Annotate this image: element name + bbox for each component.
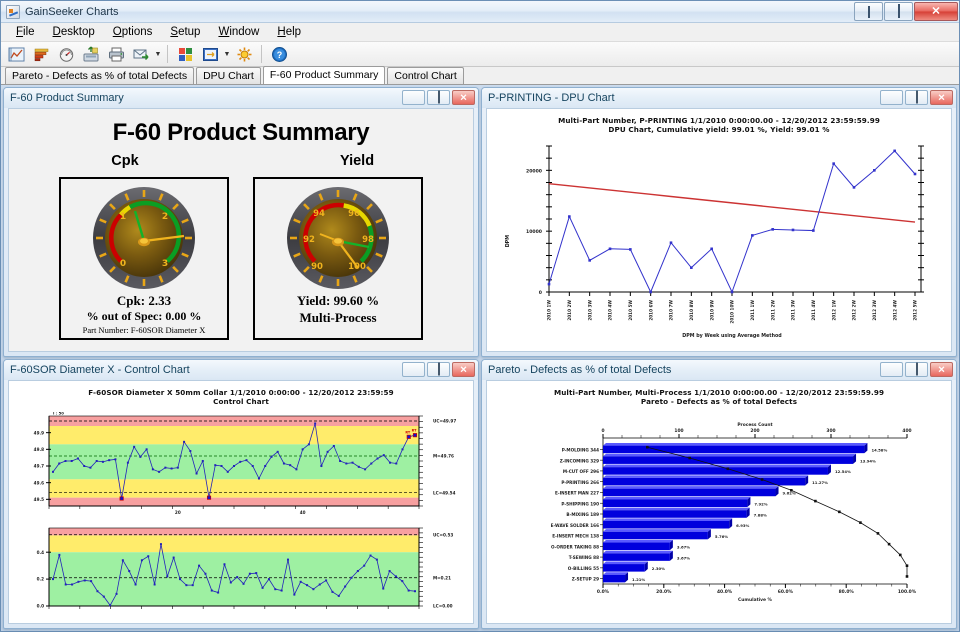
pareto-cumulative-point [877,532,880,535]
cc-data-point [83,465,85,467]
cc-data-point [331,591,333,593]
menu-bar: File Desktop Options Setup Window Help [1,23,959,42]
close-button[interactable]: ✕ [914,2,958,21]
pareto-plot: Process Count0100200300400P-MOLDING 3441… [487,406,949,618]
dpu-x-tick-label: 2010 9W [709,300,714,321]
cc-limit-label: LC=49.54 [433,490,456,495]
cc-data-point [319,583,321,585]
control-chart-subtitle: Control Chart [9,397,473,406]
dpu-x-tick-label: 2010 5W [628,300,633,321]
cc-violation-point [407,435,410,438]
pareto-percent-label: 13.94% [860,458,876,463]
cc-data-point [96,590,98,592]
cc-data-point [295,468,297,470]
cc-y-tick-label: 49.8 [34,447,44,452]
dpu-data-point [893,150,896,153]
cc-data-point [245,459,247,461]
cc-data-point [320,465,322,467]
cc-data-point [164,467,166,469]
dpu-x-tick-label: 2012 5W [913,300,918,321]
dpu-data-point [731,291,734,294]
pareto-percent-label: 6.93% [736,523,749,528]
dpu-chart-subtitle: DPU Chart, Cumulative yield: 99.01 %, Yi… [487,125,951,134]
pareto-icon[interactable] [29,43,53,65]
yield-tick-94: 94 [313,209,325,219]
cc-data-point [281,590,283,592]
cc-data-point [52,471,54,473]
cc-data-point [196,473,198,475]
control-chart-body: F-60SOR Diameter X 50mm Collar 1/1/2010 … [8,380,474,624]
cc-data-point [383,454,385,456]
pareto-percent-label: 3.67% [677,555,690,560]
cc-y-tick-label: 49.5 [34,497,44,502]
child-window-dpu-chart: P-PRINTING - DPU Chart ✕ Multi-Part Numb… [481,87,957,357]
cc-data-point [249,573,251,575]
pareto-category-label: E-WAVE SOLDER 166 [551,523,599,528]
cc-data-point [77,458,79,460]
yield-value-label: Yield: 99.60 % [297,293,379,309]
cc-limit-label: M=49.76 [433,454,454,459]
cc-data-point [58,554,60,556]
pareto-category-label: B-MIXING 189 [566,512,599,517]
cc-data-point [262,587,264,589]
cc-data-point [147,555,149,557]
cc-violation-point [120,497,123,500]
cc-data-point [255,572,257,574]
cc-data-point [102,461,104,463]
pareto-bar-top [603,497,750,500]
cc-zone [49,528,419,535]
cc-data-point [382,588,384,590]
toolbar: ▼ ▼ ? [1,42,959,67]
settings-sun-icon[interactable] [232,43,256,65]
cc-data-point [77,581,79,583]
cc-data-point [358,466,360,468]
cc-data-point [116,593,118,595]
cc-data-point [363,565,365,567]
pareto-category-label: P-PRINTING 266 [561,480,599,485]
cc-x-tick-label: 20 [175,510,181,515]
dpu-data-point [629,248,632,251]
pareto-category-label: O-ORDER TAKING 88 [551,544,599,549]
pareto-cumulative-point [859,521,862,524]
cc-data-point [122,559,124,561]
dpu-window-title: P-PRINTING - DPU Chart [488,92,615,104]
cc-data-point [114,458,116,460]
cc-data-point [185,584,187,586]
dpu-data-point [649,291,652,294]
dpu-x-tick-label: 2010 3W [587,300,592,321]
pareto-minimize-button[interactable] [880,362,903,377]
menu-window-label: indow [229,26,259,38]
yield-gauge: 92 94 96 98 90 100 [282,184,394,292]
pareto-top-tick-label: 300 [826,428,835,434]
child-window-f60-summary: F-60 Product Summary ✕ F-60 Product Summ… [3,87,479,357]
cc-zone [49,426,419,444]
cc-x-tick-label: 40 [300,510,306,515]
cc-data-point [401,580,403,582]
cc-data-point [71,583,73,585]
pareto-category-label: P-SHIPPING 190 [561,501,599,506]
toolbar-separator [167,45,168,63]
export-icon[interactable] [79,43,103,65]
pareto-bar [603,532,708,540]
pareto-bar [603,521,729,529]
menu-options[interactable]: Options [104,24,162,40]
cc-data-point [408,590,410,592]
dpu-titlebar: P-PRINTING - DPU Chart ✕ [482,88,956,108]
pareto-category-label: Z-INCOMING 329 [560,458,599,463]
chart-tabstrip: Pareto - Defects as % of total Defects D… [1,67,959,85]
cc-violation-point [207,496,210,499]
summary-column-headers: Cpk Yield [9,153,473,169]
cc-data-point [160,543,162,545]
cc-zone [49,535,419,552]
pareto-titlebar: Pareto - Defects as % of total Defects ✕ [482,360,956,380]
control-window-controls: ✕ [402,362,475,377]
pareto-percent-label: 3.67% [677,545,690,550]
cc-zone [49,479,419,497]
tab-control-chart[interactable]: Control Chart [387,67,463,84]
cpk-part-number-label: Part Number: F-60SOR Diameter X [83,325,206,335]
dpu-chart-title: Multi-Part Number, P-PRINTING 1/1/2010 0… [487,116,951,125]
dpu-window-controls: ✕ [880,90,953,105]
cc-data-point [333,445,335,447]
menu-desktop[interactable]: Desktop [44,24,104,40]
menu-window[interactable]: Window [209,24,268,40]
menu-file-label: ile [23,26,35,38]
pareto-percent-label: 14.58% [871,448,887,453]
pareto-bar [603,553,670,561]
pareto-cumulative-point [790,489,793,492]
cc-data-point [166,575,168,577]
cc-data-point [376,559,378,561]
pareto-bottom-tick-label: 20.0% [656,589,672,595]
pareto-percent-label: 2.30% [652,566,665,571]
cc-data-point [103,596,105,598]
yield-tick-90: 90 [311,262,323,272]
f60-minimize-button[interactable] [402,90,425,105]
cc-data-point [52,578,54,580]
dpu-data-point [588,259,591,262]
pareto-bar [603,499,747,507]
pareto-bar-top [603,486,779,489]
pareto-cumulative-point [814,500,817,503]
help-icon[interactable]: ? [267,43,291,65]
email-icon[interactable] [129,43,153,65]
dpu-x-tick-label: 2012 4W [892,300,897,321]
pareto-cumulative-point [727,467,730,470]
cc-data-point [152,468,154,470]
window-controls: ✕ [853,2,958,21]
f60-summary-title: F-60 Product Summary [10,92,124,104]
cc-data-point [395,463,397,465]
cc-data-point [370,463,372,465]
cc-y-tick-label: 0.4 [37,550,45,555]
tab-dpu-chart[interactable]: DPU Chart [196,67,261,84]
cc-data-point [64,460,66,462]
dpu-close-button[interactable]: ✕ [930,90,953,105]
new-chart-icon[interactable] [4,43,28,65]
pareto-category-label: E-INSERT MAN 227 [555,491,599,496]
f60-summary-body: F-60 Product Summary Cpk Yield [8,108,474,352]
pareto-bottom-tick-label: 0.0% [597,589,610,595]
pareto-cumulative-point [646,446,649,449]
dpu-data-point [832,162,835,165]
minimize-button[interactable] [854,2,883,21]
pareto-bottom-tick-label: 40.0% [717,589,733,595]
pareto-bar [603,510,747,518]
maximize-button[interactable] [884,2,913,21]
cc-data-point [89,467,91,469]
control-maximize-button[interactable] [427,362,450,377]
arrange-icon[interactable] [198,43,222,65]
cc-data-point [306,584,308,586]
dpu-data-point [853,186,856,189]
cc-corner-label: I : 50 [53,411,64,416]
cc-data-point [90,580,92,582]
cc-data-point [243,583,245,585]
dpu-x-tick-label: 2011 2W [770,300,775,321]
cc-data-point [377,458,379,460]
dpu-y-tick-label: 10000 [526,229,542,235]
cpk-gauge-box: 1 2 0 3 Cpk: 2.33 % out of Spec: 0.00 % [59,177,229,340]
pareto-bar [603,543,670,551]
pareto-bar-top [603,508,750,511]
f60-maximize-button[interactable] [427,90,450,105]
cpk-out-of-spec-label: % out of Spec: 0.00 % [87,309,202,324]
pareto-cumulative-point [688,457,691,460]
cc-data-point [283,463,285,465]
pareto-cumulative-point [888,543,891,546]
cc-data-point [270,456,272,458]
pareto-percent-label: 7.88% [754,512,767,517]
cc-y-tick-label: 0.0 [37,604,45,609]
pareto-category-label: O-BILLING 55 [568,566,599,571]
pareto-percent-label: 11.27% [812,480,828,485]
pareto-cumulative-point [899,554,902,557]
cc-data-point [233,465,235,467]
menu-help-label: elp [286,26,301,38]
pareto-bottom-tick-label: 80.0% [839,589,855,595]
cc-data-point [402,448,404,450]
cc-data-point [227,471,229,473]
cc-data-point [230,581,232,583]
pareto-bar-top [603,561,648,564]
pareto-bottom-axis-label: Cumulative % [738,597,772,603]
pareto-bar-top [603,443,867,446]
pareto-category-label: Z-SETUP 29 [572,577,599,582]
cc-zone [49,498,419,506]
print-icon[interactable] [104,43,128,65]
yield-column-header: Yield [241,153,473,169]
dpu-x-tick-label: 2010 1W [547,300,552,321]
pareto-chart-subtitle: Pareto - Defects as % of total Defects [487,397,951,406]
pareto-percent-label: 7.92% [754,501,767,506]
cc-limit-label: UC=0.53 [433,532,453,537]
yield-tick-98: 98 [362,235,374,245]
cc-data-point [339,460,341,462]
cc-data-point [325,579,327,581]
pareto-bar-top [603,475,808,478]
cc-data-point [395,575,397,577]
cpk-tick-2: 2 [162,212,168,222]
svg-text:?: ? [276,50,282,60]
cc-data-point [252,465,254,467]
cc-data-point [202,460,204,462]
pareto-percent-label: 5.76% [715,534,728,539]
cc-data-point [338,595,340,597]
pareto-window-title: Pareto - Defects as % of total Defects [488,364,671,376]
cc-data-point [300,581,302,583]
cc-data-point [314,423,316,425]
control-titlebar: F-60SOR Diameter X - Control Chart ✕ [4,360,478,380]
control-chart-plot: UC=49.97M=49.76LC=49.5449.549.649.749.84… [9,406,471,618]
cc-limit-label: UC=49.97 [433,419,456,424]
pareto-chart-body: Multi-Part Number, Multi-Process 1/1/201… [486,380,952,624]
f60-summary-titlebar: F-60 Product Summary ✕ [4,88,478,108]
pareto-cumulative-point [906,564,909,567]
pareto-bar-top [603,518,732,521]
pareto-bar [603,446,864,454]
cc-data-point [211,590,213,592]
cc-data-point [350,577,352,579]
cc-data-point [198,565,200,567]
email-dropdown-caret-icon[interactable]: ▼ [154,43,162,65]
cc-data-point [221,465,223,467]
cc-data-point [204,573,206,575]
dpu-data-point [548,283,551,286]
cpk-tick-1: 1 [120,212,126,222]
tab-f60-product-summary[interactable]: F-60 Product Summary [263,66,386,84]
cc-data-point [128,570,130,572]
dpu-x-axis-label: DPM by Week using Average Method [682,333,782,339]
pareto-top-tick-label: 100 [674,428,683,434]
pareto-percent-label: 12.54% [835,469,851,474]
cc-data-point [264,465,266,467]
f60-close-button[interactable]: ✕ [452,90,475,105]
cc-data-point [135,583,137,585]
cc-data-point [173,557,175,559]
yield-gauge-box: 92 94 96 98 90 100 Yield: 99.6 [253,177,423,340]
cc-data-point [327,451,329,453]
dpu-data-point [690,266,693,269]
pareto-bar [603,467,828,475]
pareto-top-axis-label: Process Count [737,422,772,428]
dpu-data-point [670,241,673,244]
pareto-category-label: E-INSERT MECH 138 [552,534,599,539]
control-window-title: F-60SOR Diameter X - Control Chart [10,364,190,376]
dpu-data-point [609,248,612,251]
page-title: F-60 Product Summary [9,119,473,147]
cc-data-point [308,443,310,445]
cpk-column-header: Cpk [9,153,241,169]
cpk-tick-3: 3 [162,259,168,269]
cpk-value-label: Cpk: 2.33 [117,293,171,309]
dpu-data-line [549,151,915,292]
yield-tick-96: 96 [348,209,360,219]
child-window-control-chart: F-60SOR Diameter X - Control Chart ✕ F-6… [3,359,479,629]
arrange-dropdown-caret-icon[interactable]: ▼ [223,43,231,65]
pareto-top-tick-label: 200 [750,428,759,434]
cc-data-point [177,467,179,469]
yield-process-label: Multi-Process [299,310,376,326]
tile-icon[interactable] [173,43,197,65]
toolbar-separator-2 [261,45,262,63]
cc-data-point [236,576,238,578]
cc-data-point [364,468,366,470]
dpu-x-tick-label: 2010 7W [669,300,674,321]
cpk-gauge: 1 2 0 3 [88,184,200,292]
cc-data-point [65,583,67,585]
cc-data-point [370,555,372,557]
yield-tick-92: 92 [303,235,315,245]
cc-data-point [58,463,60,465]
menu-file[interactable]: File [7,24,44,40]
cc-data-point [414,590,416,592]
gauge-icon[interactable] [54,43,78,65]
cc-data-point [217,592,219,594]
cc-data-point [158,471,160,473]
menu-help[interactable]: Help [268,24,310,40]
dpu-y-axis-label: DPM [505,235,511,247]
cc-data-point [357,570,359,572]
pareto-maximize-button[interactable] [905,362,928,377]
pareto-close-button[interactable]: ✕ [930,362,953,377]
cc-data-point [183,441,185,443]
dpu-data-point [710,248,713,251]
cc-data-point [171,468,173,470]
cc-data-point [258,478,260,480]
dpu-data-point [771,228,774,231]
application-window: GainSeeker Charts ✕ File Desktop Options… [0,0,960,632]
cc-limit-label: LC=0.00 [433,604,453,609]
cc-data-point [141,559,143,561]
cc-data-point [179,578,181,580]
f60-summary-window-controls: ✕ [402,90,475,105]
cc-data-point [289,464,291,466]
pareto-bar [603,489,776,497]
dpu-trend-line [549,184,915,222]
dpu-minimize-button[interactable] [880,90,903,105]
cc-data-point [287,559,289,561]
dpu-x-tick-label: 2011 3W [791,300,796,321]
cc-data-point [192,584,194,586]
cc-data-point [214,464,216,466]
cc-data-point [223,563,225,565]
cc-violation-label: RT [412,429,417,433]
pareto-bar-top [603,529,711,532]
dpu-maximize-button[interactable] [905,90,928,105]
control-close-button[interactable]: ✕ [452,362,475,377]
pareto-category-label: T-SEWING 88 [569,555,599,560]
cc-y-tick-label: 49.6 [34,480,44,485]
tab-pareto[interactable]: Pareto - Defects as % of total Defects [5,67,194,84]
control-minimize-button[interactable] [402,362,425,377]
cc-violation-label: RT [405,430,410,434]
pareto-bottom-tick-label: 60.0% [778,589,794,595]
cc-data-point [154,583,156,585]
menu-setup[interactable]: Setup [161,24,209,40]
dpu-x-tick-label: 2010 2W [567,300,572,321]
dpu-plot: 01000020000DPM2010 1W2010 2W2010 3W2010 … [487,134,949,344]
gainseeker-icon [6,5,20,19]
dpu-x-tick-label: 2012 3W [872,300,877,321]
pareto-bar-top [603,454,856,457]
dpu-x-tick-label: 2011 1W [750,300,755,321]
pareto-cumulative-point [906,575,909,578]
cc-zone [49,444,419,479]
